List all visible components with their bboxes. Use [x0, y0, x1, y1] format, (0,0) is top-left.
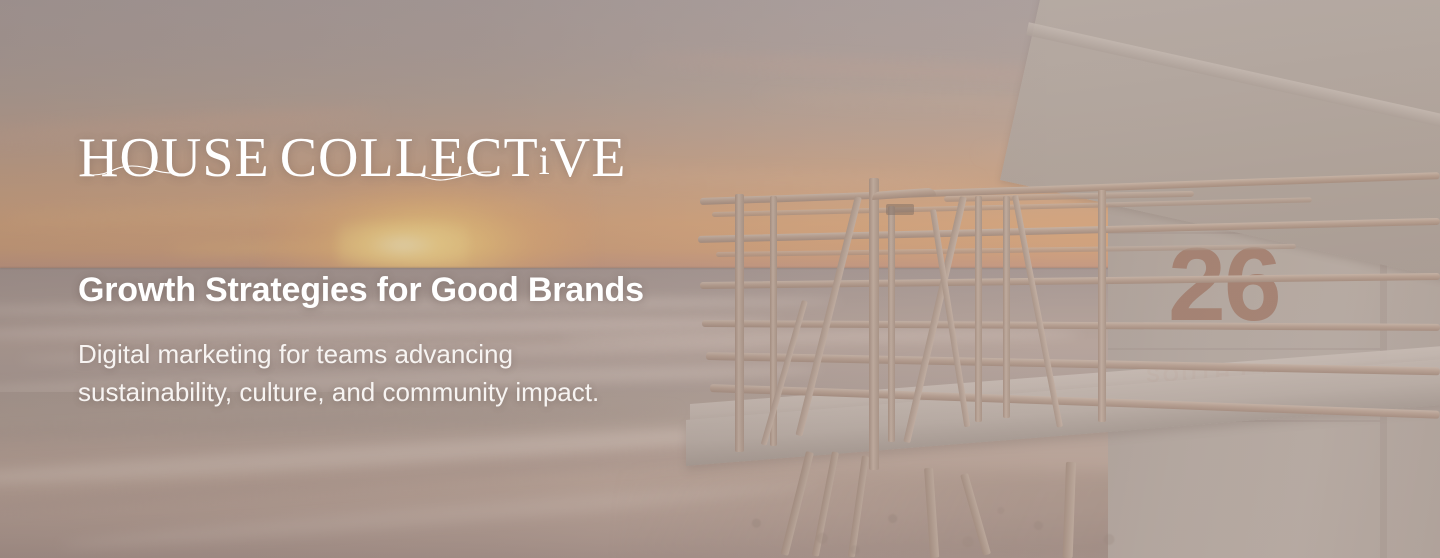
- brand-logo[interactable]: HOUSE COLLECTiVE: [78, 130, 626, 186]
- brand-logo-ve-text: VE: [550, 127, 627, 189]
- page-subtitle-line-2: sustainability, culture, and community i…: [78, 374, 599, 412]
- brand-logo-house-text: HOUSE: [78, 127, 270, 189]
- brand-logo-word-house: HOUSE: [78, 130, 270, 186]
- page-subtitle: Digital marketing for teams advancing su…: [78, 336, 599, 412]
- page-subtitle-line-1: Digital marketing for teams advancing: [78, 336, 599, 374]
- brand-logo-i-text: i: [539, 138, 550, 183]
- hero-banner: 26 SOUTH CARLSBAD: [0, 0, 1440, 558]
- page-title: Growth Strategies for Good Brands: [78, 270, 644, 310]
- hero-content: HOUSE COLLECTiVE Growth Strategies for G…: [78, 0, 778, 558]
- brand-logo-collect-text: COLLECT: [280, 127, 539, 189]
- brand-logo-word-collective: COLLECTiVE: [280, 130, 627, 186]
